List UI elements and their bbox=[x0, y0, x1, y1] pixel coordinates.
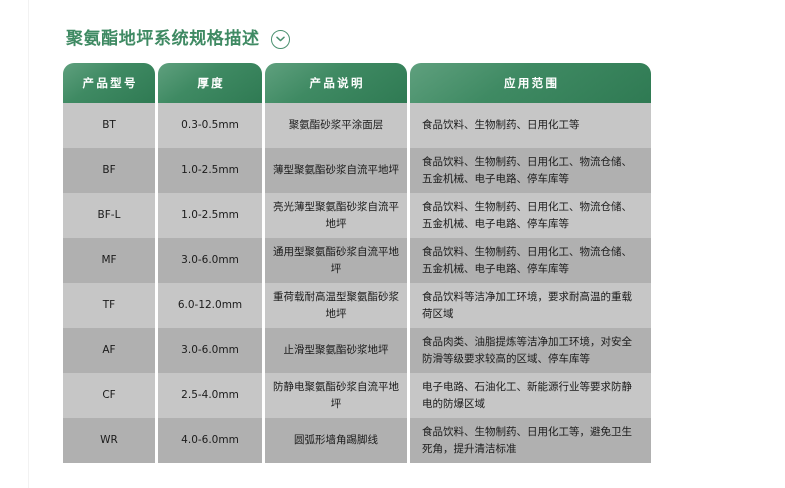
table-row: BF 1.0-2.5mm 薄型聚氨酯砂浆自流平地坪 食品饮料、生物制药、日用化工… bbox=[63, 148, 648, 193]
table-row: AF 3.0-6.0mm 止滑型聚氨酯砂浆地坪 食品肉类、油脂提炼等洁净加工环境… bbox=[63, 328, 648, 373]
cell-application: 食品饮料、生物制药、日用化工、物流仓储、五金机械、电子电路、停车库等 bbox=[410, 193, 651, 238]
cell-application: 食品饮料、生物制药、日用化工等，避免卫生死角，提升清洁标准 bbox=[410, 418, 651, 463]
cell-application: 食品饮料、生物制药、日用化工、物流仓储、五金机械、电子电路、停车库等 bbox=[410, 238, 651, 283]
table-body: BT 0.3-0.5mm 聚氨酯砂浆平涂面层 食品饮料、生物制药、日用化工等 B… bbox=[63, 103, 648, 463]
cell-model: AF bbox=[63, 328, 155, 373]
column-header-application: 应用范围 bbox=[410, 63, 651, 103]
column-header-thickness: 厚度 bbox=[158, 63, 262, 103]
column-header-model: 产品型号 bbox=[63, 63, 155, 103]
chevron-down-circle-icon[interactable] bbox=[271, 30, 290, 49]
column-header-description: 产品说明 bbox=[265, 63, 407, 103]
cell-description: 圆弧形墙角踢脚线 bbox=[265, 418, 407, 463]
cell-model: BF bbox=[63, 148, 155, 193]
card-left-edge bbox=[28, 0, 29, 488]
cell-thickness: 6.0-12.0mm bbox=[158, 283, 262, 328]
cell-thickness: 2.5-4.0mm bbox=[158, 373, 262, 418]
cell-model: MF bbox=[63, 238, 155, 283]
table-header-row: 产品型号 厚度 产品说明 应用范围 bbox=[63, 63, 648, 103]
table-row: CF 2.5-4.0mm 防静电聚氨酯砂浆自流平地坪 电子电路、石油化工、新能源… bbox=[63, 373, 648, 418]
cell-application: 食品饮料等洁净加工环境，要求耐高温的重载荷区域 bbox=[410, 283, 651, 328]
page-title: 聚氨酯地坪系统规格描述 bbox=[66, 25, 260, 53]
cell-application: 食品肉类、油脂提炼等洁净加工环境，对安全防滑等级要求较高的区域、停车库等 bbox=[410, 328, 651, 373]
cell-description: 通用型聚氨酯砂浆自流平地坪 bbox=[265, 238, 407, 283]
cell-description: 聚氨酯砂浆平涂面层 bbox=[265, 103, 407, 148]
table-row: TF 6.0-12.0mm 重荷载耐高温型聚氨酯砂浆地坪 食品饮料等洁净加工环境… bbox=[63, 283, 648, 328]
cell-description: 亮光薄型聚氨酯砂浆自流平地坪 bbox=[265, 193, 407, 238]
cell-description: 止滑型聚氨酯砂浆地坪 bbox=[265, 328, 407, 373]
cell-description: 重荷载耐高温型聚氨酯砂浆地坪 bbox=[265, 283, 407, 328]
cell-model: TF bbox=[63, 283, 155, 328]
cell-model: CF bbox=[63, 373, 155, 418]
cell-thickness: 3.0-6.0mm bbox=[158, 328, 262, 373]
spec-table: 产品型号 厚度 产品说明 应用范围 BT 0.3-0.5mm 聚氨酯砂浆平涂面层… bbox=[63, 63, 648, 463]
table-row: MF 3.0-6.0mm 通用型聚氨酯砂浆自流平地坪 食品饮料、生物制药、日用化… bbox=[63, 238, 648, 283]
cell-application: 食品饮料、生物制药、日用化工、物流仓储、五金机械、电子电路、停车库等 bbox=[410, 148, 651, 193]
cell-thickness: 1.0-2.5mm bbox=[158, 193, 262, 238]
cell-description: 防静电聚氨酯砂浆自流平地坪 bbox=[265, 373, 407, 418]
cell-thickness: 3.0-6.0mm bbox=[158, 238, 262, 283]
cell-model: WR bbox=[63, 418, 155, 463]
section-header: 聚氨酯地坪系统规格描述 bbox=[66, 25, 290, 53]
cell-application: 食品饮料、生物制药、日用化工等 bbox=[410, 103, 651, 148]
cell-description: 薄型聚氨酯砂浆自流平地坪 bbox=[265, 148, 407, 193]
page-root: 聚氨酯地坪系统规格描述 产品型号 厚度 产品说明 应用范围 BT 0.3-0.5… bbox=[0, 0, 785, 488]
cell-thickness: 1.0-2.5mm bbox=[158, 148, 262, 193]
table-row: BT 0.3-0.5mm 聚氨酯砂浆平涂面层 食品饮料、生物制药、日用化工等 bbox=[63, 103, 648, 148]
cell-model: BT bbox=[63, 103, 155, 148]
table-row: BF-L 1.0-2.5mm 亮光薄型聚氨酯砂浆自流平地坪 食品饮料、生物制药、… bbox=[63, 193, 648, 238]
cell-application: 电子电路、石油化工、新能源行业等要求防静电的防爆区域 bbox=[410, 373, 651, 418]
cell-thickness: 0.3-0.5mm bbox=[158, 103, 262, 148]
cell-model: BF-L bbox=[63, 193, 155, 238]
table-row: WR 4.0-6.0mm 圆弧形墙角踢脚线 食品饮料、生物制药、日用化工等，避免… bbox=[63, 418, 648, 463]
cell-thickness: 4.0-6.0mm bbox=[158, 418, 262, 463]
